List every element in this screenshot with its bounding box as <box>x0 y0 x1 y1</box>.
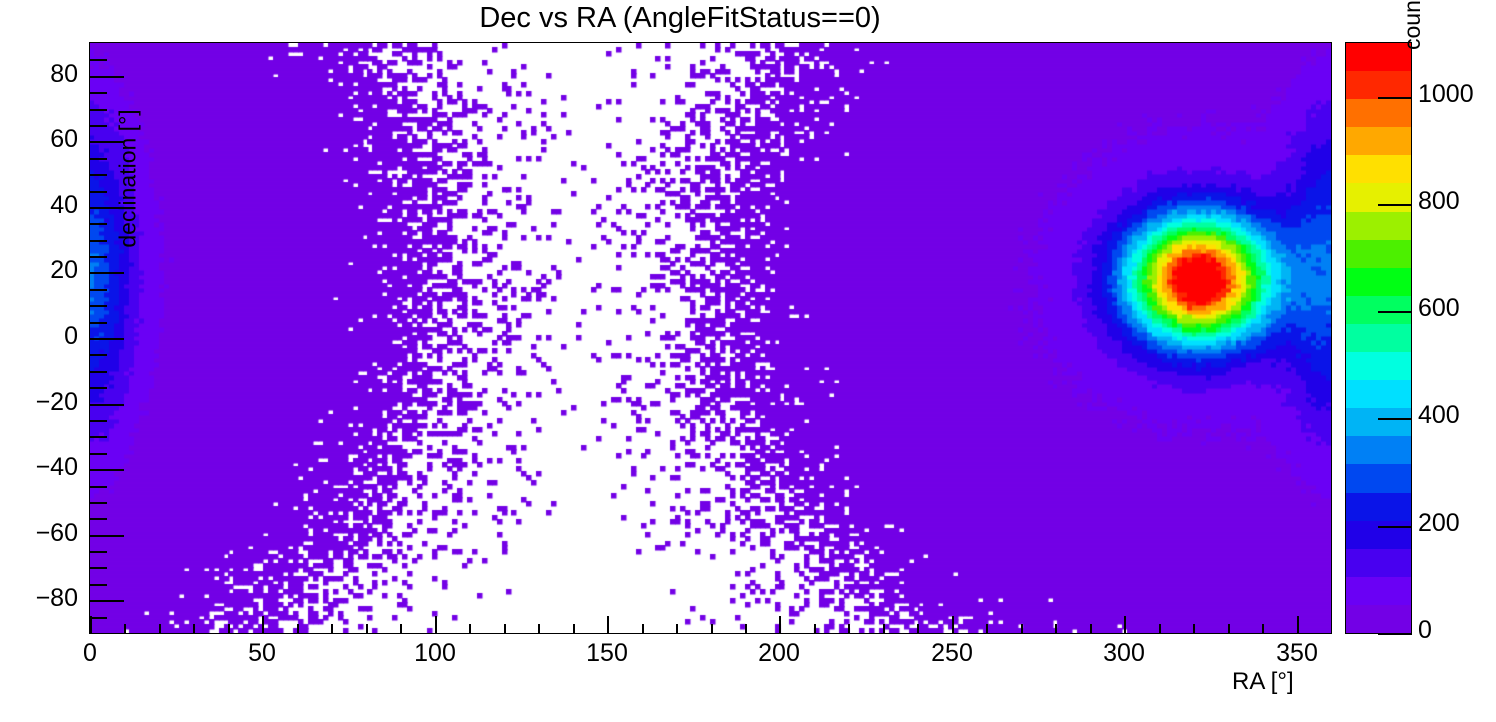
heatmap-image <box>90 43 1331 633</box>
y-axis-tick-label: 0 <box>0 322 78 351</box>
y-axis-tick <box>90 469 124 471</box>
color-bar-band <box>1346 352 1411 380</box>
color-bar-band <box>1346 183 1411 211</box>
x-axis-minor-tick <box>573 624 575 633</box>
x-axis-tick <box>435 616 437 633</box>
x-axis-tick-label: 150 <box>557 639 657 668</box>
color-bar-band <box>1346 408 1411 436</box>
y-axis-tick <box>90 338 124 340</box>
y-axis-tick-label: 40 <box>0 191 78 220</box>
y-axis-tick-label: 60 <box>0 125 78 154</box>
x-axis-tick <box>779 616 781 633</box>
color-bar-band <box>1346 71 1411 99</box>
x-axis-minor-tick <box>538 624 540 633</box>
x-axis-tick-label: 0 <box>40 639 140 668</box>
y-axis-tick-label: −60 <box>0 519 78 548</box>
color-bar-band <box>1346 380 1411 408</box>
y-axis-minor-tick <box>90 109 107 111</box>
x-axis-minor-tick <box>711 624 713 633</box>
y-axis-minor-tick <box>90 584 107 586</box>
x-axis-minor-tick <box>1228 624 1230 633</box>
y-axis-minor-tick <box>90 256 107 258</box>
color-bar-tick-label: 1000 <box>1418 80 1474 109</box>
y-axis-title: declination [°] <box>115 39 142 319</box>
y-axis-minor-tick <box>90 518 107 520</box>
plot-frame <box>89 42 1332 634</box>
x-axis-minor-tick <box>676 624 678 633</box>
x-axis-minor-tick <box>814 624 816 633</box>
y-axis-tick <box>90 600 124 602</box>
x-axis-tick-label: 300 <box>1074 639 1174 668</box>
plot-canvas: Dec vs RA (AngleFitStatus==0) −80−60−40−… <box>0 0 1496 722</box>
y-axis-minor-tick <box>90 502 107 504</box>
y-axis-minor-tick <box>90 453 107 455</box>
color-bar-tick <box>1378 97 1412 99</box>
x-axis-tick-label: 250 <box>902 639 1002 668</box>
x-axis-minor-tick <box>366 624 368 633</box>
x-axis-minor-tick <box>1193 624 1195 633</box>
color-bar-band <box>1346 521 1411 549</box>
x-axis-tick-label: 200 <box>729 639 829 668</box>
y-axis-minor-tick <box>90 289 107 291</box>
x-axis-tick-label: 100 <box>385 639 485 668</box>
y-axis-tick <box>90 535 124 537</box>
color-bar-band <box>1346 268 1411 296</box>
x-axis-minor-tick <box>228 624 230 633</box>
x-axis-minor-tick <box>159 624 161 633</box>
y-axis-tick-label: −80 <box>0 584 78 613</box>
y-axis-tick-label: 20 <box>0 256 78 285</box>
y-axis-minor-tick <box>90 354 107 356</box>
color-bar-tick-label: 800 <box>1418 187 1460 216</box>
y-axis-minor-tick <box>90 617 107 619</box>
x-axis-minor-tick <box>1090 624 1092 633</box>
color-bar-band <box>1346 155 1411 183</box>
color-bar-band <box>1346 127 1411 155</box>
color-bar-band <box>1346 549 1411 577</box>
x-axis-tick <box>607 616 609 633</box>
y-axis-tick-label: −40 <box>0 453 78 482</box>
y-axis-tick <box>90 404 124 406</box>
x-axis-tick <box>262 616 264 633</box>
y-axis-tick-label: −20 <box>0 388 78 417</box>
color-bar-tick <box>1378 633 1412 635</box>
y-axis-tick-label: 80 <box>0 60 78 89</box>
x-axis-minor-tick <box>745 624 747 633</box>
color-bar-band <box>1346 240 1411 268</box>
y-axis-minor-tick <box>90 125 107 127</box>
y-axis-minor-tick <box>90 305 107 307</box>
color-bar-band <box>1346 577 1411 605</box>
y-axis-minor-tick <box>90 158 107 160</box>
y-axis-minor-tick <box>90 387 107 389</box>
x-axis-minor-tick <box>297 624 299 633</box>
y-axis-minor-tick <box>90 174 107 176</box>
x-axis-minor-tick <box>642 624 644 633</box>
page-title: Dec vs RA (AngleFitStatus==0) <box>0 2 1360 35</box>
x-axis-minor-tick <box>848 624 850 633</box>
x-axis-minor-tick <box>883 624 885 633</box>
color-bar-band <box>1346 605 1411 633</box>
x-axis-minor-tick <box>469 624 471 633</box>
x-axis-tick <box>952 616 954 633</box>
x-axis-minor-tick <box>1055 624 1057 633</box>
x-axis-tick-label: 350 <box>1247 639 1347 668</box>
y-axis-minor-tick <box>90 551 107 553</box>
y-axis-minor-tick <box>90 92 107 94</box>
color-bar-tick-label: 0 <box>1418 616 1432 645</box>
color-bar-tick <box>1378 311 1412 313</box>
y-axis-minor-tick <box>90 436 107 438</box>
x-axis-minor-tick <box>986 624 988 633</box>
x-axis-minor-tick <box>331 624 333 633</box>
color-bar-tick <box>1378 418 1412 420</box>
x-axis-minor-tick <box>193 624 195 633</box>
color-bar-title: count <box>1399 0 1426 50</box>
x-axis-tick <box>1297 616 1299 633</box>
color-bar-tick <box>1378 204 1412 206</box>
color-bar-band <box>1346 493 1411 521</box>
color-bar-band <box>1346 436 1411 464</box>
color-bar <box>1345 42 1412 634</box>
color-bar-band <box>1346 464 1411 492</box>
color-bar-band <box>1346 324 1411 352</box>
y-axis-minor-tick <box>90 371 107 373</box>
x-axis-minor-tick <box>504 624 506 633</box>
y-axis-minor-tick <box>90 486 107 488</box>
y-axis-minor-tick <box>90 240 107 242</box>
y-axis-minor-tick <box>90 191 107 193</box>
color-bar-band <box>1346 99 1411 127</box>
color-bar-tick-label: 200 <box>1418 509 1460 538</box>
y-axis-minor-tick <box>90 59 107 61</box>
x-axis-tick <box>1124 616 1126 633</box>
y-axis-minor-tick <box>90 322 107 324</box>
color-bar-tick-label: 400 <box>1418 401 1460 430</box>
x-axis-title: RA [°] <box>1232 668 1294 696</box>
x-axis-minor-tick <box>1262 624 1264 633</box>
x-axis-minor-tick <box>124 624 126 633</box>
y-axis-minor-tick <box>90 420 107 422</box>
x-axis-minor-tick <box>400 624 402 633</box>
x-axis-tick <box>90 616 92 633</box>
x-axis-minor-tick <box>917 624 919 633</box>
x-axis-minor-tick <box>1021 624 1023 633</box>
color-bar-band <box>1346 212 1411 240</box>
color-bar-band <box>1346 296 1411 324</box>
x-axis-tick-label: 50 <box>212 639 312 668</box>
y-axis-minor-tick <box>90 567 107 569</box>
color-bar-tick-label: 600 <box>1418 294 1460 323</box>
color-bar-tick <box>1378 526 1412 528</box>
y-axis-minor-tick <box>90 223 107 225</box>
x-axis-minor-tick <box>1159 624 1161 633</box>
